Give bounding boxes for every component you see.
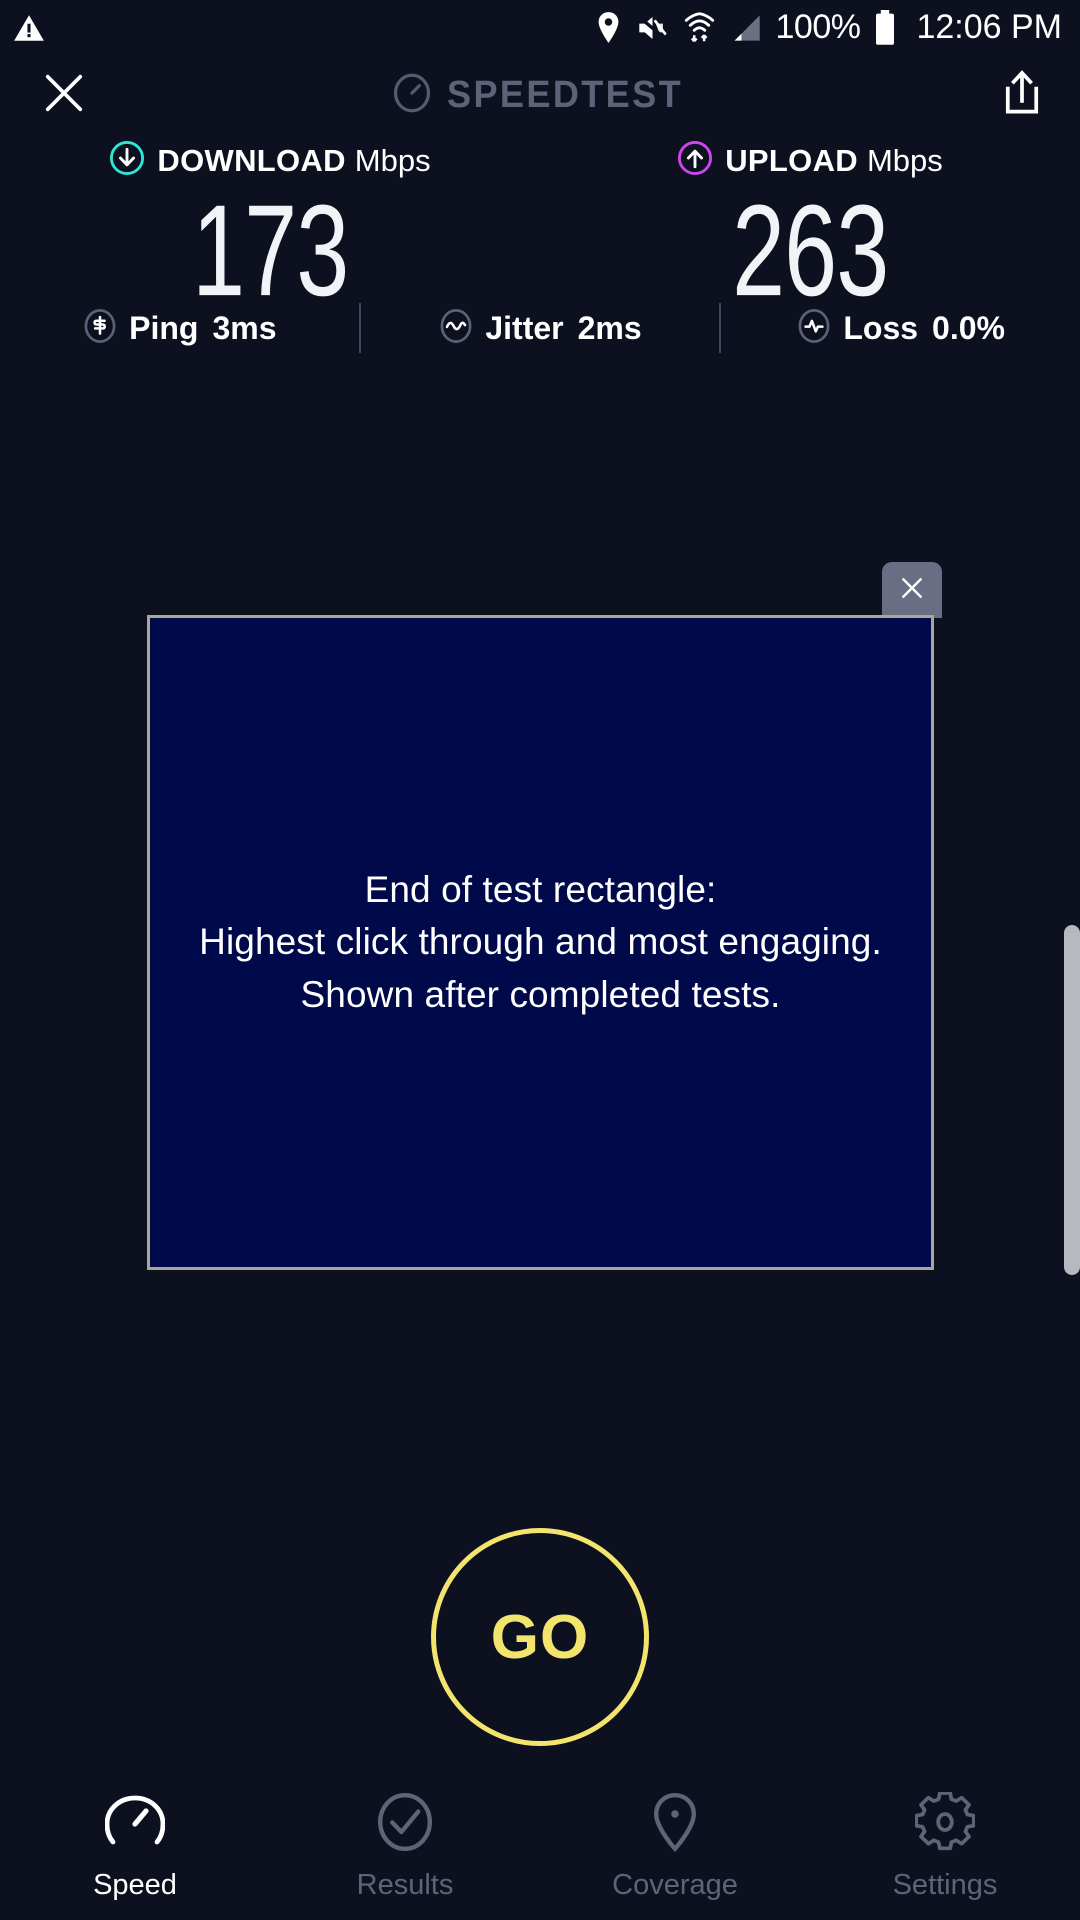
brand-title: SPEEDTEST (447, 74, 683, 117)
ping-label: Ping (129, 310, 198, 347)
share-icon (1000, 69, 1044, 122)
battery-percent-label: 100% (776, 8, 861, 47)
download-unit: Mbps (355, 143, 431, 179)
nav-item-coverage[interactable]: Coverage (540, 1780, 810, 1920)
upload-metric: UPLOAD Mbps 263 (540, 140, 1080, 298)
advert-line-3: Shown after completed tests. (199, 969, 882, 1022)
download-metric: DOWNLOAD Mbps 173 (0, 140, 540, 298)
jitter-icon (438, 308, 474, 349)
clock-label: 12:06 PM (916, 8, 1062, 47)
download-header: DOWNLOAD Mbps (109, 140, 430, 181)
ping-stat: Ping 3ms (0, 308, 359, 349)
nav-item-speed[interactable]: Speed (0, 1780, 270, 1920)
jitter-stat: Jitter 2ms (361, 308, 720, 349)
download-label: DOWNLOAD (157, 143, 345, 179)
status-bar-left (12, 11, 46, 45)
advert-line-1: End of test rectangle: (199, 864, 882, 917)
nav-item-settings[interactable]: Settings (810, 1780, 1080, 1920)
nav-label-results: Results (357, 1869, 454, 1902)
nav-label-speed: Speed (93, 1869, 177, 1902)
upload-label: UPLOAD (725, 143, 858, 179)
battery-full-icon (874, 10, 896, 46)
advert-banner[interactable]: End of test rectangle: Highest click thr… (147, 615, 934, 1270)
brand: SPEEDTEST (391, 72, 695, 119)
cellular-signal-icon (730, 13, 762, 43)
mute-icon (636, 13, 669, 43)
go-button[interactable]: GO (431, 1528, 649, 1746)
warning-triangle-icon (12, 11, 46, 45)
upload-value: 263 (732, 191, 888, 311)
close-icon (897, 573, 927, 608)
advert-line-2: Highest click through and most engaging. (199, 916, 882, 969)
wifi-icon (683, 11, 716, 44)
advert-close-button[interactable] (882, 562, 942, 618)
upload-header: UPLOAD Mbps (677, 140, 943, 181)
upload-unit: Mbps (867, 143, 943, 179)
download-value: 173 (192, 191, 348, 311)
jitter-label: Jitter (485, 310, 563, 347)
connection-stats-row: Ping 3ms Jitter 2ms Loss 0.0% (0, 300, 1080, 356)
ping-value: 3ms (212, 310, 276, 347)
nav-label-coverage: Coverage (612, 1869, 738, 1902)
jitter-value: 2ms (578, 310, 642, 347)
upload-arrow-icon (677, 140, 713, 181)
location-pin-icon (645, 1792, 705, 1857)
advert-text: End of test rectangle: Highest click thr… (199, 864, 882, 1022)
loss-icon (796, 308, 832, 349)
scrollbar-thumb[interactable] (1064, 925, 1080, 1275)
app-header: SPEEDTEST (0, 55, 1080, 135)
loss-label: Loss (843, 310, 918, 347)
ping-icon (82, 308, 118, 349)
loss-stat: Loss 0.0% (721, 308, 1080, 349)
speedometer-icon (391, 72, 433, 119)
results-panel: DOWNLOAD Mbps 173 UPLOAD Mbps 263 (0, 140, 1080, 298)
share-button[interactable] (990, 63, 1054, 127)
status-bar-right: 100% 12:06 PM (595, 8, 1063, 47)
speedometer-icon (105, 1792, 165, 1857)
download-arrow-icon (109, 140, 145, 181)
nav-item-results[interactable]: Results (270, 1780, 540, 1920)
gear-icon (915, 1792, 975, 1857)
loss-value: 0.0% (932, 310, 1005, 347)
close-button[interactable] (32, 63, 96, 127)
download-upload-row: DOWNLOAD Mbps 173 UPLOAD Mbps 263 (0, 140, 1080, 298)
check-circle-icon (375, 1792, 435, 1857)
status-bar: 100% 12:06 PM (0, 0, 1080, 55)
go-button-label: GO (491, 1602, 589, 1673)
bottom-navigation: Speed Results Coverage Settings (0, 1780, 1080, 1920)
nav-label-settings: Settings (893, 1869, 998, 1902)
location-pin-icon (595, 11, 622, 44)
close-icon (41, 70, 87, 121)
